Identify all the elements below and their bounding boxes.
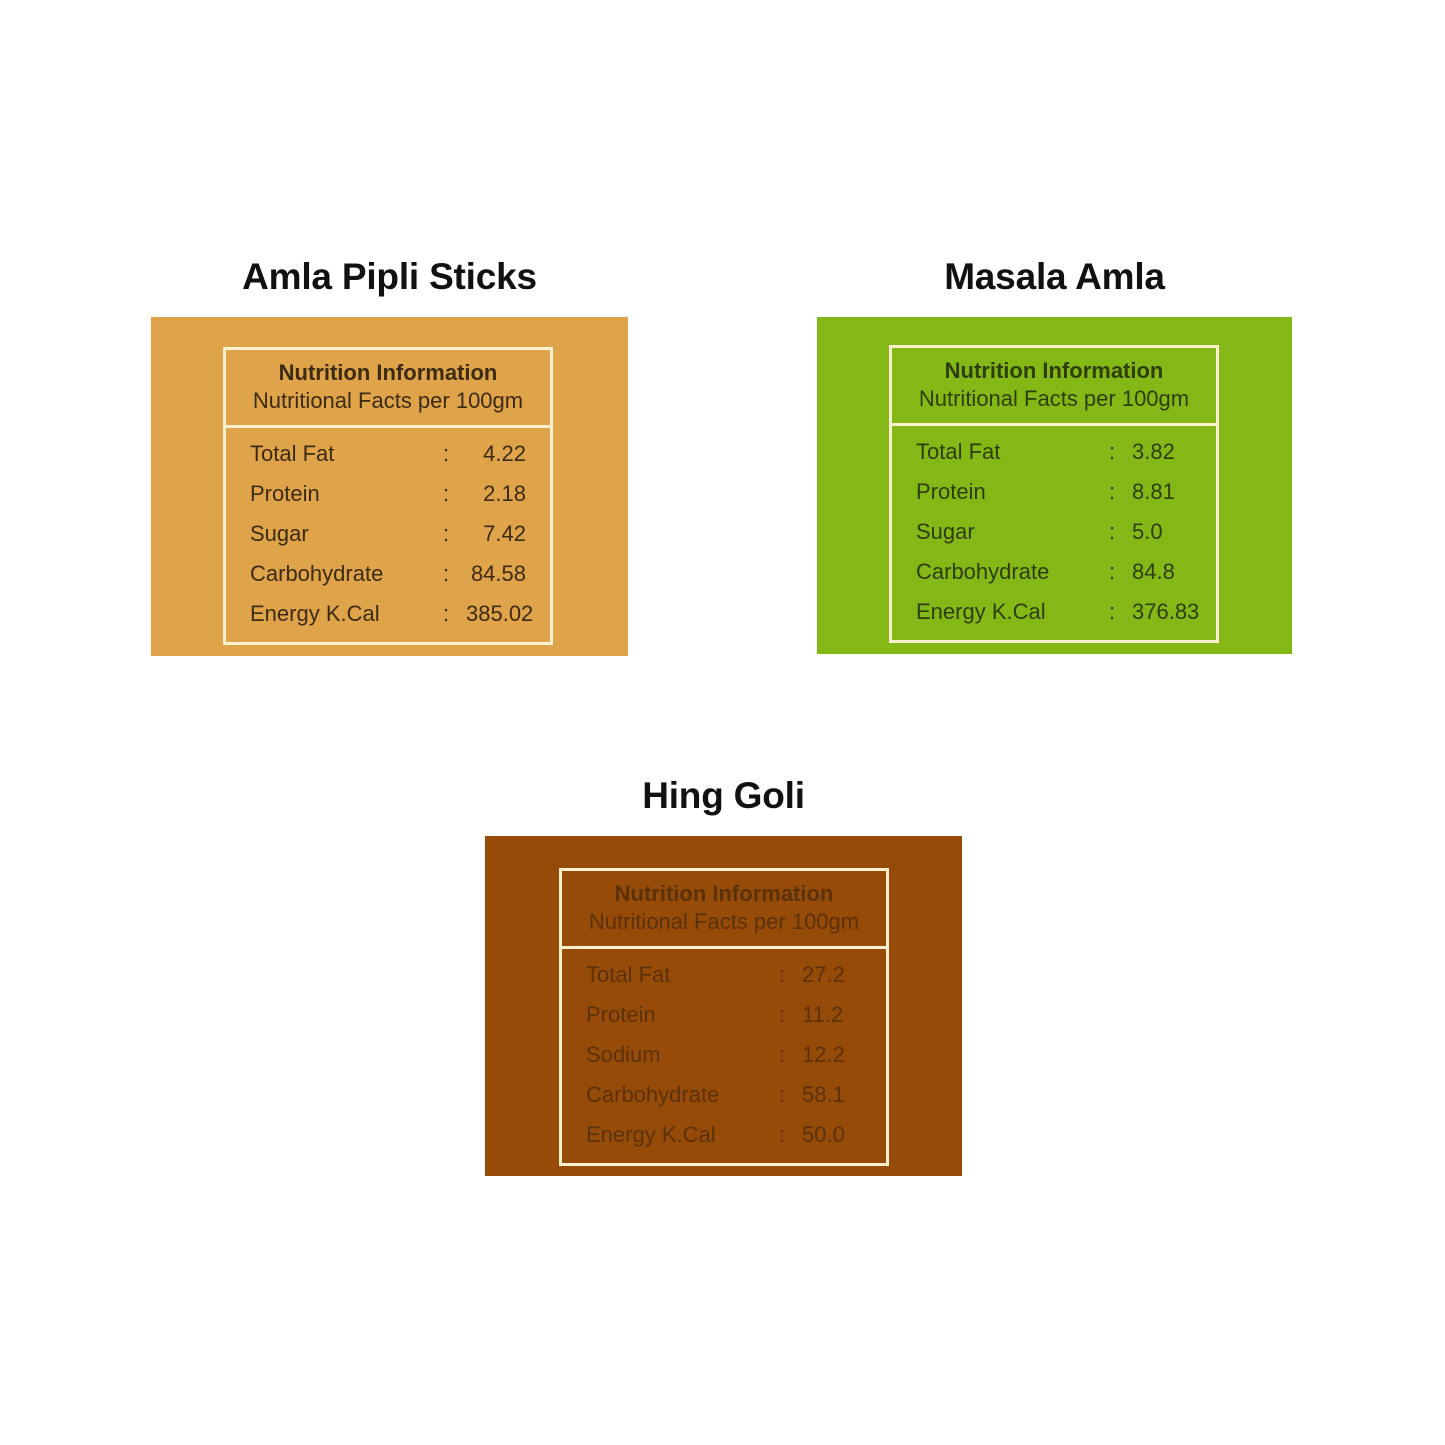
nutrient-label: Carbohydrate xyxy=(562,1084,762,1106)
nutrition-table-amla-pipli-sticks: Nutrition Information Nutritional Facts … xyxy=(223,347,553,645)
nutrition-table-header-amla-pipli-sticks: Nutrition Information Nutritional Facts … xyxy=(226,350,550,428)
nutrient-separator: : xyxy=(1092,561,1132,583)
nutrition-header-subtitle: Nutritional Facts per 100gm xyxy=(902,385,1206,413)
nutrient-label: Carbohydrate xyxy=(226,563,426,585)
table-row: Carbohydrate : 58.1 xyxy=(562,1075,886,1115)
nutrition-header-title: Nutrition Information xyxy=(236,359,540,387)
nutrition-header-subtitle: Nutritional Facts per 100gm xyxy=(572,908,876,936)
nutrient-separator: : xyxy=(1092,441,1132,463)
nutrient-value: 8.81 xyxy=(1132,481,1216,503)
nutrient-label: Protein xyxy=(226,483,426,505)
table-row: Protein : 8.81 xyxy=(892,472,1216,512)
table-row: Total Fat : 27.2 xyxy=(562,955,886,995)
table-row: Carbohydrate : 84.58 xyxy=(226,554,550,594)
table-row: Protein : 11.2 xyxy=(562,995,886,1035)
nutrient-separator: : xyxy=(426,443,466,465)
nutrition-header-title: Nutrition Information xyxy=(572,880,876,908)
nutrient-label: Carbohydrate xyxy=(892,561,1092,583)
table-row: Energy K.Cal : 376.83 xyxy=(892,592,1216,632)
nutrient-separator: : xyxy=(1092,601,1132,623)
product-title-hing-goli: Hing Goli xyxy=(485,777,962,814)
table-row: Energy K.Cal : 385.02 xyxy=(226,594,550,634)
product-title-masala-amla: Masala Amla xyxy=(817,258,1292,295)
nutrition-rows-masala-amla: Total Fat : 3.82 Protein : 8.81 Sugar : … xyxy=(892,426,1216,640)
table-row: Protein : 2.18 xyxy=(226,474,550,514)
nutrient-label: Sugar xyxy=(226,523,426,545)
nutrient-value: 58.1 xyxy=(802,1084,886,1106)
table-row: Total Fat : 3.82 xyxy=(892,432,1216,472)
nutrient-separator: : xyxy=(762,964,802,986)
nutrient-label: Energy K.Cal xyxy=(892,601,1092,623)
product-card-masala-amla: Nutrition Information Nutritional Facts … xyxy=(817,317,1292,654)
nutrient-separator: : xyxy=(426,563,466,585)
product-card-amla-pipli-sticks: Nutrition Information Nutritional Facts … xyxy=(151,317,628,656)
nutrient-separator: : xyxy=(426,523,466,545)
nutrient-separator: : xyxy=(1092,481,1132,503)
nutrient-label: Protein xyxy=(892,481,1092,503)
nutrient-value: 385.02 xyxy=(466,603,557,625)
nutrient-value: 5.0 xyxy=(1132,521,1216,543)
product-card-hing-goli: Nutrition Information Nutritional Facts … xyxy=(485,836,962,1176)
nutrient-label: Total Fat xyxy=(892,441,1092,463)
nutrient-label: Protein xyxy=(562,1004,762,1026)
nutrient-separator: : xyxy=(426,603,466,625)
nutrition-table-masala-amla: Nutrition Information Nutritional Facts … xyxy=(889,345,1219,643)
nutrition-header-subtitle: Nutritional Facts per 100gm xyxy=(236,387,540,415)
product-block-hing-goli: Hing Goli Nutrition Information Nutritio… xyxy=(485,777,962,1176)
nutrient-separator: : xyxy=(762,1084,802,1106)
nutrient-value: 2.18 xyxy=(466,483,550,505)
nutrition-comparison-canvas: Amla Pipli Sticks Nutrition Information … xyxy=(0,0,1445,1445)
nutrient-separator: : xyxy=(762,1124,802,1146)
nutrient-value: 50.0 xyxy=(802,1124,886,1146)
table-row: Sodium : 12.2 xyxy=(562,1035,886,1075)
product-block-masala-amla: Masala Amla Nutrition Information Nutrit… xyxy=(817,258,1292,654)
nutrient-label: Sodium xyxy=(562,1044,762,1066)
nutrient-separator: : xyxy=(426,483,466,505)
nutrient-label: Sugar xyxy=(892,521,1092,543)
nutrient-value: 12.2 xyxy=(802,1044,886,1066)
nutrient-label: Energy K.Cal xyxy=(226,603,426,625)
nutrient-value: 376.83 xyxy=(1132,601,1231,623)
table-row: Sugar : 7.42 xyxy=(226,514,550,554)
nutrient-separator: : xyxy=(762,1044,802,1066)
nutrition-rows-amla-pipli-sticks: Total Fat : 4.22 Protein : 2.18 Sugar : … xyxy=(226,428,550,642)
table-row: Carbohydrate : 84.8 xyxy=(892,552,1216,592)
nutrition-rows-hing-goli: Total Fat : 27.2 Protein : 11.2 Sodium :… xyxy=(562,949,886,1163)
nutrient-label: Total Fat xyxy=(562,964,762,986)
nutrient-label: Energy K.Cal xyxy=(562,1124,762,1146)
nutrition-table-header-masala-amla: Nutrition Information Nutritional Facts … xyxy=(892,348,1216,426)
nutrient-value: 4.22 xyxy=(466,443,550,465)
nutrient-value: 3.82 xyxy=(1132,441,1216,463)
table-row: Total Fat : 4.22 xyxy=(226,434,550,474)
nutrition-header-title: Nutrition Information xyxy=(902,357,1206,385)
nutrition-table-header-hing-goli: Nutrition Information Nutritional Facts … xyxy=(562,871,886,949)
product-title-amla-pipli-sticks: Amla Pipli Sticks xyxy=(151,258,628,295)
nutrient-value: 7.42 xyxy=(466,523,550,545)
nutrition-table-hing-goli: Nutrition Information Nutritional Facts … xyxy=(559,868,889,1166)
nutrient-value: 84.58 xyxy=(466,563,550,585)
table-row: Sugar : 5.0 xyxy=(892,512,1216,552)
nutrient-separator: : xyxy=(762,1004,802,1026)
nutrient-value: 84.8 xyxy=(1132,561,1216,583)
table-row: Energy K.Cal : 50.0 xyxy=(562,1115,886,1155)
nutrient-separator: : xyxy=(1092,521,1132,543)
nutrient-label: Total Fat xyxy=(226,443,426,465)
nutrient-value: 27.2 xyxy=(802,964,886,986)
product-block-amla-pipli-sticks: Amla Pipli Sticks Nutrition Information … xyxy=(151,258,628,656)
nutrient-value: 11.2 xyxy=(802,1004,886,1026)
